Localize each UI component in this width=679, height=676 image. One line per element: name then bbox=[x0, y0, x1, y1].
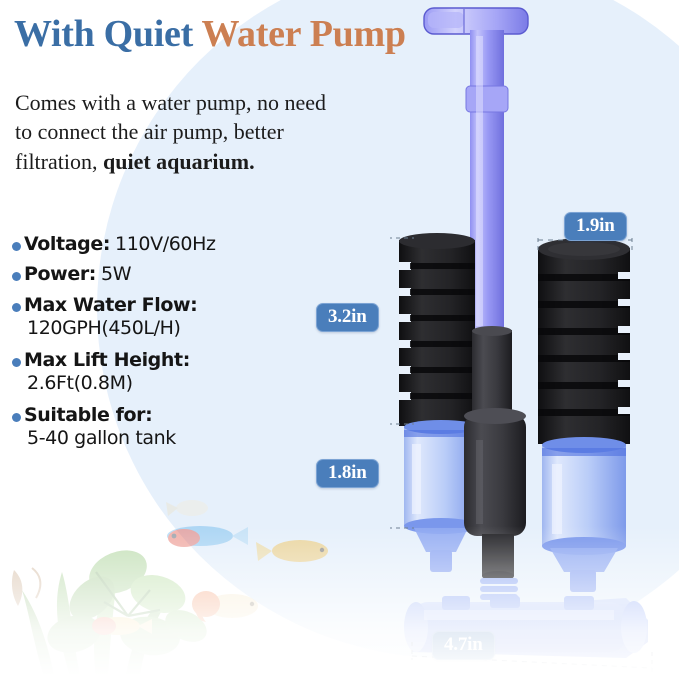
spec-value: 110V/60Hz bbox=[115, 234, 216, 255]
dimension-badge-width-sponge: 1.9in bbox=[564, 212, 627, 241]
bullet-dot-icon bbox=[12, 242, 21, 251]
spec-item-power: Power: 5W bbox=[12, 264, 312, 285]
spec-label: Max Water Flow: bbox=[24, 295, 197, 316]
title-segment-blue: With Quiet bbox=[14, 13, 193, 55]
spec-value: 5W bbox=[101, 264, 131, 285]
intro-paragraph: Comes with a water pump, no need to conn… bbox=[15, 88, 345, 176]
bottom-fade-overlay bbox=[0, 526, 679, 676]
intro-line-1: Comes with a water pump, no bbox=[15, 90, 279, 115]
spec-item-max-water-flow: Max Water Flow: 120GPH(450L/H) bbox=[12, 295, 312, 341]
spec-value: 5-40 gallon tank bbox=[27, 427, 312, 451]
intro-emphasis: quiet aquarium. bbox=[103, 149, 255, 174]
bullet-dot-icon bbox=[12, 272, 21, 281]
spec-label: Max Lift Height: bbox=[24, 350, 190, 371]
product-infographic: With Quiet Water Pump Comes with a water… bbox=[0, 0, 679, 676]
bullet-dot-icon bbox=[12, 303, 21, 312]
spec-item-max-lift-height: Max Lift Height: 2.6Ft(0.8M) bbox=[12, 350, 312, 396]
title-segment-orange: Water Pump bbox=[201, 13, 405, 55]
dimension-badge-height-chamber: 1.8in bbox=[316, 459, 379, 488]
page-title: With Quiet Water Pump bbox=[14, 14, 406, 56]
spec-item-voltage: Voltage: 110V/60Hz bbox=[12, 234, 312, 255]
bullet-dot-icon bbox=[12, 358, 21, 367]
intro-line-3: filtration, bbox=[15, 149, 97, 174]
spec-value: 2.6Ft(0.8M) bbox=[27, 372, 312, 396]
spec-item-suitable-for: Suitable for: 5-40 gallon tank bbox=[12, 405, 312, 451]
spec-label: Suitable for: bbox=[24, 405, 152, 426]
dimension-badge-height-sponge: 3.2in bbox=[316, 303, 379, 332]
spec-list: Voltage: 110V/60Hz Power: 5W Max Water F… bbox=[12, 234, 312, 460]
spec-value: 120GPH(450L/H) bbox=[27, 317, 312, 341]
sponge-filter-left bbox=[399, 233, 475, 426]
sponge-filter-right bbox=[538, 238, 630, 444]
bullet-dot-icon bbox=[12, 413, 21, 422]
spec-label: Voltage: bbox=[24, 234, 110, 255]
spec-label: Power: bbox=[24, 264, 96, 285]
